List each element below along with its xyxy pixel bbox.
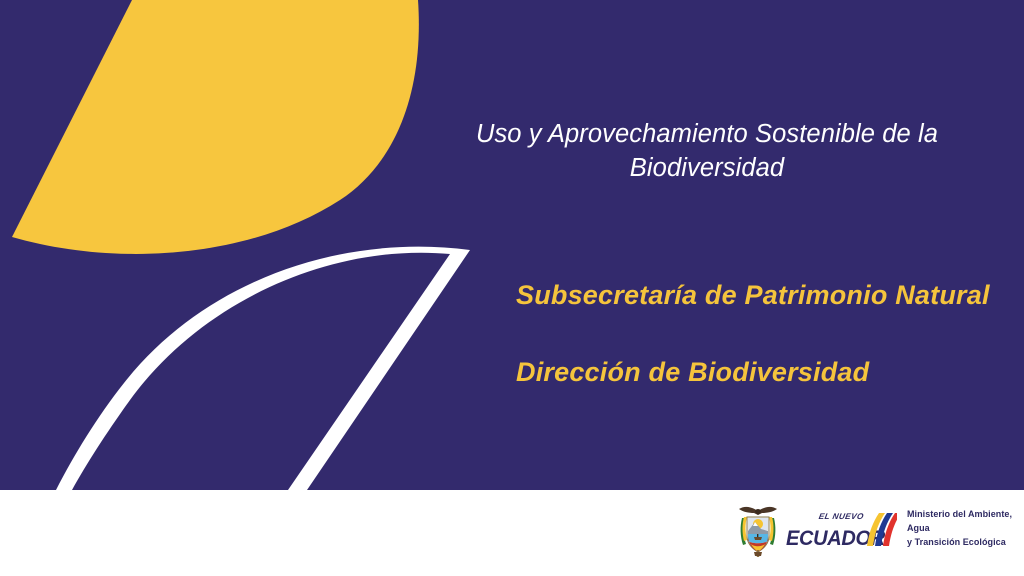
presentation-slide: Uso y Aprovechamiento Sostenible de la B… xyxy=(0,0,1024,576)
ecuador-coat-of-arms-icon xyxy=(733,500,783,558)
wordmark-tagline: EL NUEVO xyxy=(818,512,865,521)
subtitle-spacer xyxy=(516,313,1006,355)
ministry-logo-lockup: EL NUEVO ECUADOR Ministerio del Ambiente… xyxy=(733,498,1024,560)
el-nuevo-ecuador-wordmark: EL NUEVO ECUADOR xyxy=(785,504,897,554)
slide-background-panel xyxy=(0,0,1024,490)
ministry-name-label: Ministerio del Ambiente, Agua y Transici… xyxy=(907,508,1017,550)
subtitle-line-direccion: Dirección de Biodiversidad xyxy=(516,355,1006,390)
subtitle-block: Subsecretaría de Patrimonio Natural Dire… xyxy=(516,278,1006,390)
page-title: Uso y Aprovechamiento Sostenible de la B… xyxy=(414,118,1000,186)
subtitle-line-subsecretaria: Subsecretaría de Patrimonio Natural xyxy=(516,278,1006,313)
